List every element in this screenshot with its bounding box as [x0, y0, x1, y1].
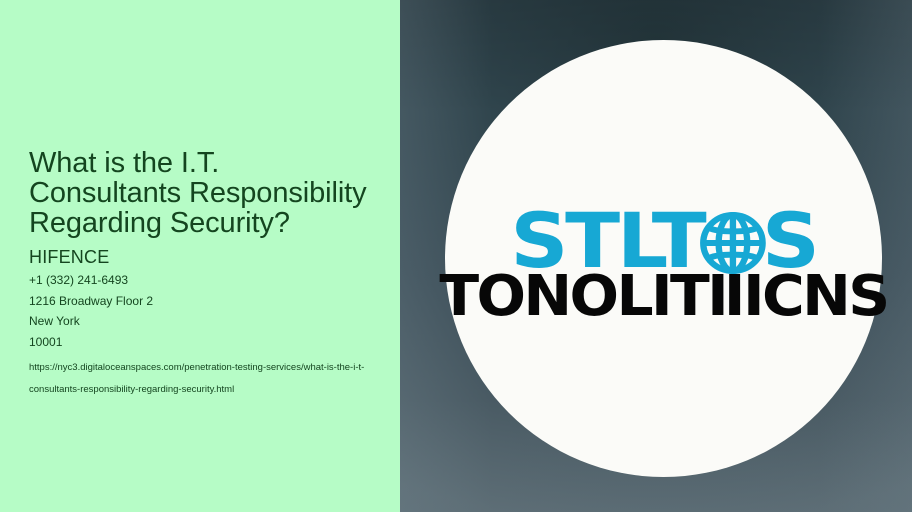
text-block: What is the I.T. Consultants Responsibil… — [29, 148, 374, 401]
brand-name: HIFENCE — [29, 246, 374, 268]
contact-city: New York — [29, 311, 374, 332]
source-url-text: https://nyc3.digitaloceanspaces.com/pene… — [29, 357, 365, 401]
contact-details: +1 (332) 241-6493 1216 Broadway Floor 2 … — [29, 270, 374, 352]
logo-wordmark: STLT S — [448, 207, 879, 323]
left-content-panel: What is the I.T. Consultants Responsibil… — [0, 0, 400, 512]
contact-zip: 10001 — [29, 332, 374, 353]
logo-bottom-line: TONOLITⅡICNS — [439, 271, 887, 323]
page-title: What is the I.T. Consultants Responsibil… — [29, 148, 374, 238]
contact-phone: +1 (332) 241-6493 — [29, 270, 374, 291]
logo-panel: STLT S — [400, 0, 912, 512]
contact-street: 1216 Broadway Floor 2 — [29, 291, 374, 312]
logo-circle: STLT S — [445, 40, 882, 477]
slide-canvas: What is the I.T. Consultants Responsibil… — [0, 0, 912, 512]
